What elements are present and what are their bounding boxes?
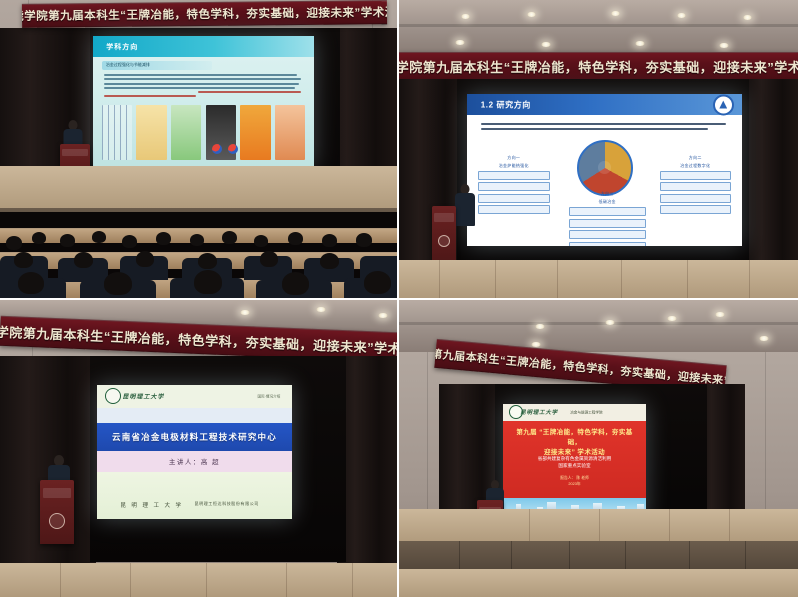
direction-item (569, 207, 646, 216)
direction-item (569, 230, 646, 239)
poster-subtitle: 省部共建复杂有色金属资源清洁利用 国家重点实验室 (512, 455, 638, 470)
column-label: 方向一 (478, 155, 550, 161)
poster-byline: 报告人： 陈 老师 (560, 476, 589, 480)
ceiling-downlight (719, 43, 729, 48)
podium-nameplate (434, 213, 454, 222)
ceiling-downlight (461, 14, 470, 19)
podium-nameplate (43, 488, 72, 498)
stage-front-edge (399, 541, 798, 569)
photo-collage-2x2: 冶能学院第九届本科生“王牌冶能，特色学科，夯实基础，迎接未来”学术活动 学科方向… (0, 0, 798, 597)
slide-bullet-block (481, 123, 729, 133)
slide-header-bar: 学科方向 (93, 36, 314, 57)
hall-ceiling (399, 0, 798, 54)
slide-title: 昆明理工大学 国际·情况介绍 云南省冶金电极材料工程技术研究中心 主讲人：高 超… (97, 385, 292, 519)
slide-subheading-text: 冶金过程强化与节能减排 (106, 62, 150, 68)
column-title: 低碳冶金 (569, 199, 646, 205)
poster-title: 第九届 “王牌冶能，特色学科，夯实基础， 迎接未来” 学术活动 (510, 428, 639, 458)
slide-header-title: 1.2 研究方向 (481, 99, 531, 110)
ceiling-downlight (611, 11, 620, 16)
footer-organization-right: 昆明理工恒达科技股份有限公司 (195, 501, 259, 507)
ceiling-downlight (531, 342, 541, 347)
direction-column-three: 方向三 低碳冶金 (569, 191, 646, 246)
slide-corner-tag: 国际·情况介绍 (258, 395, 281, 400)
event-banner-text: 冶能学院第九届本科生“王牌冶能，特色学科，夯实基础，迎接未来”学术活动 (399, 57, 798, 76)
panel-bottom-right: 冶能学院第九届本科生“王牌冶能，特色学科，夯实基础，迎接未来”学术活动 昆明理工… (399, 300, 798, 597)
stage-curtain-right (337, 356, 397, 568)
ceiling-downlight (605, 320, 615, 325)
column-title: 冶金过程数字化 (660, 163, 732, 169)
slide-header-bar: 1.2 研究方向 (467, 94, 742, 115)
slide-footer-band: 昆 明 理 工 大 学 昆明理工恒达科技股份有限公司 (97, 472, 292, 519)
department-name: 冶金与能源工程学院 (570, 410, 602, 415)
ceiling-downlight (535, 324, 545, 329)
ceiling-downlight (677, 13, 686, 18)
poster-body: 第九届 “王牌冶能，特色学科，夯实基础， 迎接未来” 学术活动 省部共建复杂有色… (503, 421, 646, 498)
ceiling-downlight (635, 41, 645, 46)
podium-emblem (49, 513, 65, 529)
slide-body-paragraph (104, 74, 303, 99)
projection-screen: 学科方向 冶金过程强化与节能减排 (93, 36, 314, 168)
ceiling-beam (399, 322, 798, 325)
projection-screen: 1.2 研究方向 方向一 冶金炉能热强化 方向二 (467, 94, 742, 246)
poster-title-line1: 第九届 “王牌冶能，特色学科，夯实基础， (516, 429, 632, 446)
event-banner: 冶能学院第九届本科生“王牌冶能，特色学科，夯实基础，迎接未来”学术活动 (22, 0, 387, 28)
speaker (454, 184, 476, 226)
direction-item (660, 171, 732, 180)
slide-header-band: 昆明理工大学 国际·情况介绍 (97, 385, 292, 409)
direction-item (478, 194, 550, 203)
panel-bottom-left: 冶能学院第九届本科生“王牌冶能，特色学科，夯实基础，迎接未来”学术活动 昆明理工… (0, 300, 399, 597)
slide-header-band: 昆明理工大学 冶金与能源工程学院 (503, 404, 646, 422)
university-logo-icon (713, 94, 734, 115)
slide-red-poster: 昆明理工大学 冶金与能源工程学院 第九届 “王牌冶能，特色学科，夯实基础， 迎接… (503, 404, 646, 524)
event-banner-text: 冶能学院第九届本科生“王牌冶能，特色学科，夯实基础，迎接未来”学术活动 (22, 4, 387, 24)
audience-seating (0, 212, 397, 298)
stage-floor (399, 260, 798, 298)
direction-item (478, 182, 550, 191)
ceiling-beam (399, 24, 798, 27)
poster-byline-block: 报告人： 陈 老师 2023年 (503, 475, 646, 488)
direction-item (478, 171, 550, 180)
ceiling-downlight (455, 40, 465, 45)
panel-top-left: 冶能学院第九届本科生“王牌冶能，特色学科，夯实基础，迎接未来”学术活动 学科方向… (0, 0, 399, 300)
podium (432, 206, 456, 262)
direction-item (478, 205, 550, 214)
ceiling-downlight (240, 310, 250, 315)
direction-column-two: 方向二 冶金过程数字化 (660, 155, 732, 217)
stage-floor (0, 563, 397, 597)
ceiling-downlight (759, 336, 769, 341)
university-emblem-icon (105, 388, 121, 404)
footer-organization-left: 昆 明 理 工 大 学 (120, 501, 183, 509)
figure-furnace (136, 105, 167, 160)
slide-speaker-text: 主讲人：高 超 (169, 456, 220, 466)
figure-simulation (275, 105, 306, 160)
direction-item (569, 242, 646, 246)
projection-screen: 昆明理工大学 冶金与能源工程学院 第九届 “王牌冶能，特色学科，夯实基础， 迎接… (503, 404, 646, 524)
figure-schematic (171, 105, 202, 160)
event-banner: 冶能学院第九届本科生“王牌冶能，特色学科，夯实基础，迎接未来”学术活动 (399, 52, 798, 81)
ceiling-downlight (743, 15, 752, 20)
university-name: 昆明理工大学 (520, 408, 558, 416)
three-sector-pie-graphic (577, 140, 633, 196)
column-label: 方向三 (569, 191, 646, 197)
slide-research-direction: 学科方向 冶金过程强化与节能减排 (93, 36, 314, 168)
column-label: 方向二 (660, 155, 732, 161)
poster-subtitle-line1: 省部共建复杂有色金属资源清洁利用 (538, 456, 612, 461)
slide-header-title: 学科方向 (106, 42, 138, 52)
podium-nameplate (62, 149, 87, 156)
slide-figure-row (102, 105, 305, 160)
podium (40, 480, 74, 544)
figure-plot (102, 105, 133, 160)
figure-micrograph (206, 105, 237, 160)
ceiling-downlight (378, 313, 388, 318)
column-title: 冶金炉能热强化 (478, 163, 550, 169)
stage-floor (0, 166, 397, 210)
direction-item (660, 182, 732, 191)
poster-subtitle-line2: 国家重点实验室 (558, 463, 590, 468)
house-floor (399, 569, 798, 597)
ceiling-downlight (541, 42, 551, 47)
panel-top-right: 冶能学院第九届本科生“王牌冶能，特色学科，夯实基础，迎接未来”学术活动 1.2 … (399, 0, 798, 300)
figure-thermal (240, 105, 271, 160)
slide-spacer-band (97, 408, 292, 423)
ceiling-downlight (667, 316, 677, 321)
direction-item (660, 205, 732, 214)
projection-screen: 昆明理工大学 国际·情况介绍 云南省冶金电极材料工程技术研究中心 主讲人：高 超… (97, 385, 292, 519)
podium-emblem (438, 235, 450, 247)
slide-subheading: 冶金过程强化与节能减排 (102, 61, 213, 70)
slide-speaker-band: 主讲人：高 超 (97, 451, 292, 472)
ceiling-downlight (715, 312, 725, 317)
university-name: 昆明理工大学 (122, 392, 164, 401)
ceiling-downlight (527, 12, 536, 17)
slide-title-text: 云南省冶金电极材料工程技术研究中心 (112, 431, 277, 443)
stage-curtain-right (746, 79, 798, 269)
ceiling-downlight (316, 307, 326, 312)
direction-column-one: 方向一 冶金炉能热强化 (478, 155, 550, 217)
direction-item (569, 219, 646, 228)
stage-floor (399, 509, 798, 543)
direction-item (660, 194, 732, 203)
slide-title-band: 云南省冶金电极材料工程技术研究中心 (97, 423, 292, 451)
poster-date: 2023年 (568, 482, 580, 486)
slide-research-directions: 1.2 研究方向 方向一 冶金炉能热强化 方向二 (467, 94, 742, 246)
